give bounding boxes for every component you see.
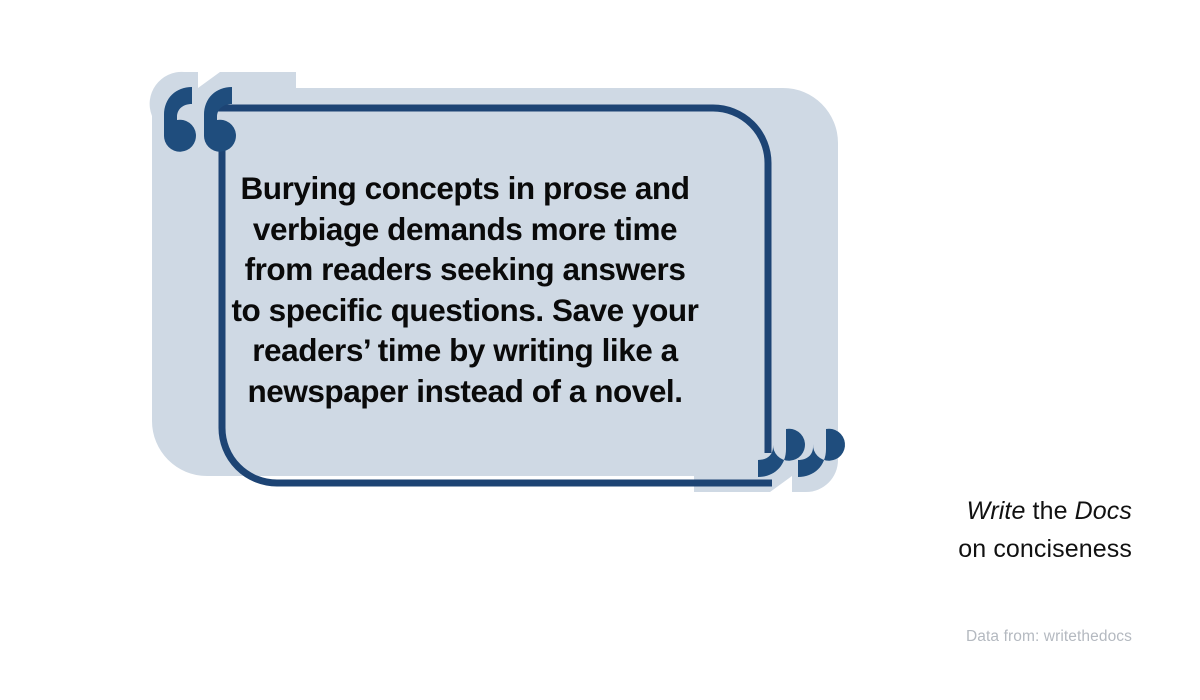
attribution-connector: the <box>1025 497 1074 525</box>
attribution-line-1: Write the Docs <box>967 497 1132 525</box>
source-note: Data from: writethedocs <box>712 628 1132 646</box>
attribution-publication-word-1: Write <box>967 497 1026 525</box>
attribution-line-2: on conciseness <box>712 530 1132 568</box>
slide-canvas: Burying concepts in prose and verbiage d… <box>0 0 1200 700</box>
attribution: Write the Docs on conciseness <box>712 492 1132 568</box>
quote-card: Burying concepts in prose and verbiage d… <box>120 60 830 535</box>
quote-text: Burying concepts in prose and verbiage d… <box>180 168 750 411</box>
attribution-publication-word-2: Docs <box>1075 497 1132 525</box>
